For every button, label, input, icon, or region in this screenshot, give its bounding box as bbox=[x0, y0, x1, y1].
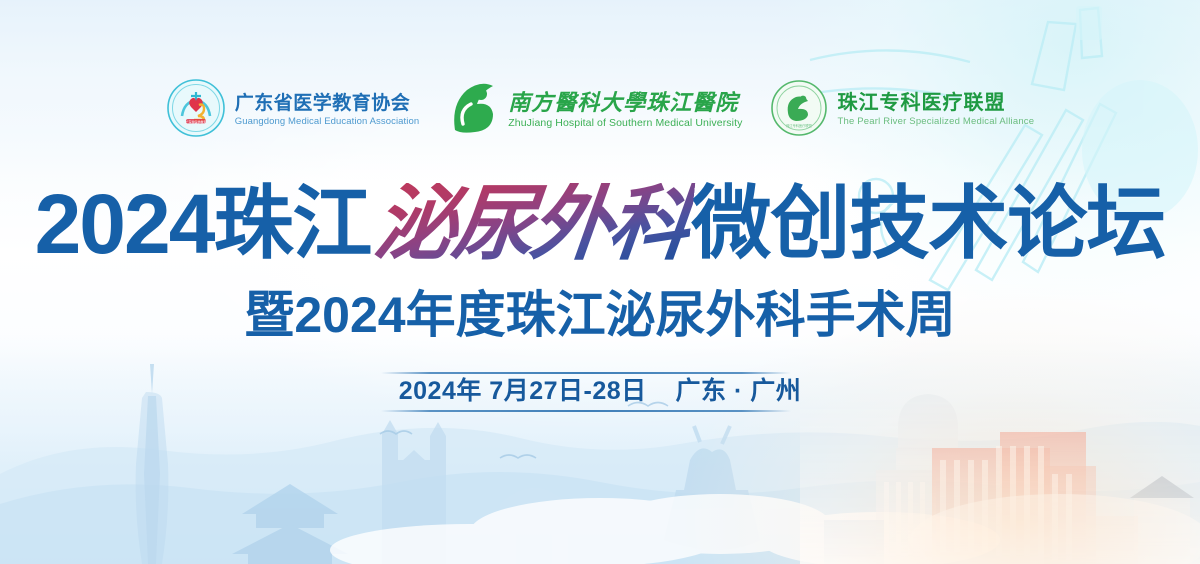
svg-text:广东省医学教育: 广东省医学教育 bbox=[185, 119, 206, 124]
logo-zhujiang-hospital: 南方醫科大學珠江醫院 ZhuJiang Hospital of Southern… bbox=[433, 80, 756, 141]
pearl-river-specialized-medical-alliance-seal: 珠江专科医疗联盟 bbox=[770, 79, 828, 142]
title-year: 2024 bbox=[35, 176, 214, 273]
logo-text-block: 广东省医学教育协会 Guangdong Medical Education As… bbox=[235, 94, 420, 127]
date-place-box: 2024年 7月27日-28日 广东 · 广州 bbox=[381, 372, 820, 412]
five-rams-statue bbox=[664, 426, 760, 550]
bottom-gradient-wash bbox=[0, 334, 1200, 564]
title-part1: 珠江 bbox=[213, 184, 371, 264]
mountain-back bbox=[0, 422, 1200, 564]
memorial-arch bbox=[500, 488, 568, 564]
sponsor-logos-row: 广东省医学教育 广东省医学教育协会 Guangdong Medical Educ… bbox=[0, 74, 1200, 146]
event-place: 广东 · 广州 bbox=[676, 377, 802, 405]
logo-cn-name: 广东省医学教育协会 bbox=[235, 94, 420, 113]
logo-cn-name: 珠江专科医疗联盟 bbox=[837, 93, 1034, 113]
event-date: 2024年 7月27日-28日 bbox=[399, 377, 647, 405]
conference-banner: 广东省医学教育 广东省医学教育协会 Guangdong Medical Educ… bbox=[0, 0, 1200, 564]
mountain-front bbox=[0, 472, 1200, 564]
date-place-text: 2024年 7月27日-28日 广东 · 广州 bbox=[399, 379, 802, 404]
title-part2: 微创技术论坛 bbox=[691, 184, 1165, 264]
pagoda bbox=[232, 484, 348, 564]
logo-en-name: ZhuJiang Hospital of Southern Medical Un… bbox=[508, 118, 742, 129]
logo-guangdong-medical-education-association: 广东省医学教育 广东省医学教育协会 Guangdong Medical Educ… bbox=[152, 78, 434, 143]
date-place-row: 2024年 7月27日-28日 广东 · 广州 bbox=[0, 372, 1200, 412]
svg-text:珠江专科医疗联盟: 珠江专科医疗联盟 bbox=[787, 123, 813, 128]
mist-clouds bbox=[330, 494, 1000, 564]
main-title-row: 2024 珠江 泌尿外科 微创技术论坛 bbox=[0, 176, 1200, 272]
zhujiang-hospital-leaf-mark bbox=[447, 80, 499, 141]
subtitle-row: 暨2024年度珠江泌尿外科手术周 bbox=[0, 288, 1200, 343]
rule-top bbox=[381, 372, 791, 374]
logo-text-block: 南方醫科大學珠江醫院 ZhuJiang Hospital of Southern… bbox=[508, 92, 742, 129]
rule-bottom bbox=[381, 410, 791, 412]
page-subtitle: 暨2024年度珠江泌尿外科手术周 bbox=[244, 288, 955, 343]
title-calligraphy: 泌尿外科 bbox=[367, 183, 696, 265]
logo-text-block: 珠江专科医疗联盟 The Pearl River Specialized Med… bbox=[837, 93, 1034, 127]
guangdong-medical-education-association-seal: 广东省医学教育 bbox=[166, 78, 226, 143]
logo-en-name: Guangdong Medical Education Association bbox=[235, 117, 420, 127]
sacred-heart-cathedral bbox=[382, 420, 446, 564]
logo-cn-name: 南方醫科大學珠江醫院 bbox=[508, 92, 742, 114]
logo-pearl-river-alliance: 珠江专科医疗联盟 珠江专科医疗联盟 The Pearl River Specia… bbox=[756, 79, 1048, 142]
logo-en-name: The Pearl River Specialized Medical Alli… bbox=[837, 117, 1034, 127]
